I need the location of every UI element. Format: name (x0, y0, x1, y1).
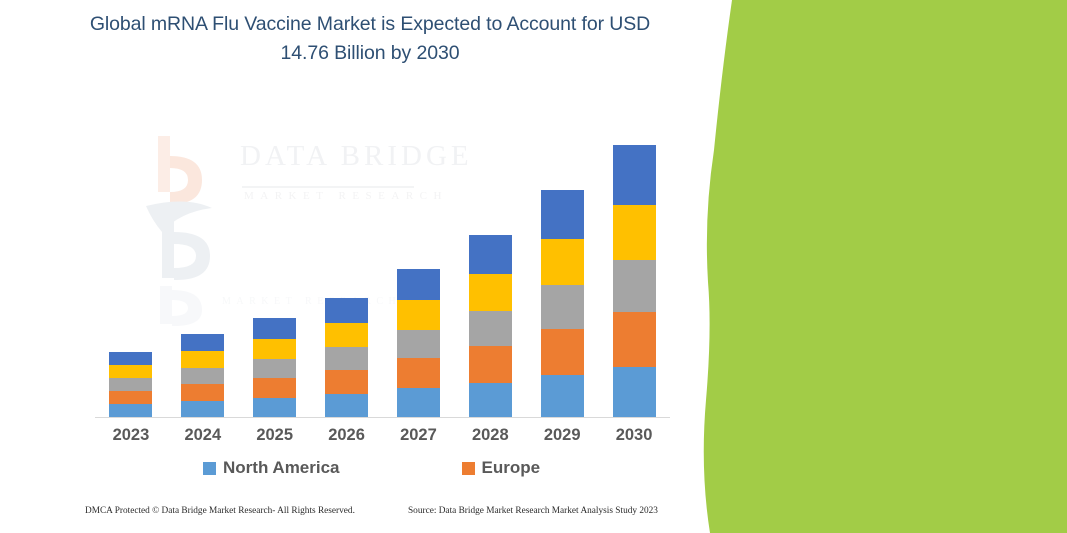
x-tick-2027: 2027 (397, 426, 440, 445)
infographic-root: Global mRNA Flu Vaccine Market is Expect… (0, 0, 1067, 533)
bar-segment-series-5 (541, 190, 584, 239)
bar-segment-europe (109, 391, 152, 404)
legend-swatch-icon (203, 462, 216, 475)
bar-segment-europe (469, 346, 512, 383)
bar-segment-series-3 (109, 378, 152, 391)
bar-segment-series-3 (325, 347, 368, 370)
legend-item-europe[interactable]: Europe (462, 458, 541, 478)
bar-segment-north-america (109, 404, 152, 417)
bar-segment-series-3 (541, 285, 584, 329)
bar-segment-north-america (325, 394, 368, 417)
x-tick-2026: 2026 (325, 426, 368, 445)
bar-segment-series-4 (397, 300, 440, 330)
bar-segment-series-3 (253, 359, 296, 378)
x-tick-2030: 2030 (613, 426, 656, 445)
bar-segment-series-4 (109, 365, 152, 378)
bar-segment-series-5 (253, 318, 296, 339)
bar-segment-series-4 (253, 339, 296, 359)
footer-copyright: DMCA Protected © Data Bridge Market Rese… (85, 506, 355, 516)
bar-segment-north-america (613, 367, 656, 417)
bar-segment-series-5 (181, 334, 224, 351)
legend-item-north-america[interactable]: North America (203, 458, 340, 478)
x-tick-2028: 2028 (469, 426, 512, 445)
x-tick-2025: 2025 (253, 426, 296, 445)
green-panel-shape (690, 0, 1067, 533)
bar-2024 (181, 334, 224, 417)
bar-segment-series-5 (325, 298, 368, 323)
bar-segment-europe (613, 312, 656, 367)
bar-segment-europe (181, 384, 224, 401)
x-tick-2024: 2024 (181, 426, 224, 445)
bar-segment-europe (325, 370, 368, 394)
bar-2027 (397, 269, 440, 417)
bar-segment-series-3 (613, 260, 656, 312)
bar-segment-europe (253, 378, 296, 398)
legend-swatch-icon (462, 462, 475, 475)
bar-segment-series-5 (613, 145, 656, 205)
bar-segment-series-5 (397, 269, 440, 300)
bar-2028 (469, 235, 512, 417)
axis-baseline (95, 417, 670, 418)
bar-2025 (253, 318, 296, 417)
bar-chart-plot (95, 120, 670, 418)
bar-segment-series-4 (181, 351, 224, 368)
bar-segment-series-4 (613, 205, 656, 260)
legend-label: Europe (482, 458, 541, 478)
chart-legend: North AmericaEurope (95, 455, 670, 481)
bar-2029 (541, 190, 584, 417)
bar-segment-north-america (253, 398, 296, 417)
footer: DMCA Protected © Data Bridge Market Rese… (85, 506, 685, 524)
x-tick-2023: 2023 (109, 426, 152, 445)
bar-segment-series-5 (469, 235, 512, 274)
page-title: Global mRNA Flu Vaccine Market is Expect… (85, 10, 655, 68)
bar-segment-north-america (541, 375, 584, 417)
bar-segment-europe (541, 329, 584, 375)
footer-source: Source: Data Bridge Market Research Mark… (408, 506, 658, 516)
x-axis: 20232024202520262027202820292030 (95, 426, 670, 450)
chart-panel: Global mRNA Flu Vaccine Market is Expect… (0, 0, 735, 533)
bar-segment-series-4 (469, 274, 512, 311)
bar-2023 (109, 352, 152, 417)
bar-segment-europe (397, 358, 440, 388)
x-tick-2029: 2029 (541, 426, 584, 445)
bar-segment-north-america (469, 383, 512, 417)
bar-2030 (613, 145, 656, 417)
bar-segment-north-america (397, 388, 440, 417)
bar-segment-series-4 (325, 323, 368, 347)
bar-segment-series-5 (109, 352, 152, 365)
bar-segment-series-3 (469, 311, 512, 346)
legend-label: North America (223, 458, 340, 478)
bar-segment-series-3 (181, 368, 224, 384)
bar-2026 (325, 298, 368, 417)
bar-segment-north-america (181, 401, 224, 417)
brand-panel: Global mRNA Flu Vaccine Market, By Regio… (690, 0, 1067, 533)
bar-segment-series-3 (397, 330, 440, 358)
bar-segment-series-4 (541, 239, 584, 285)
